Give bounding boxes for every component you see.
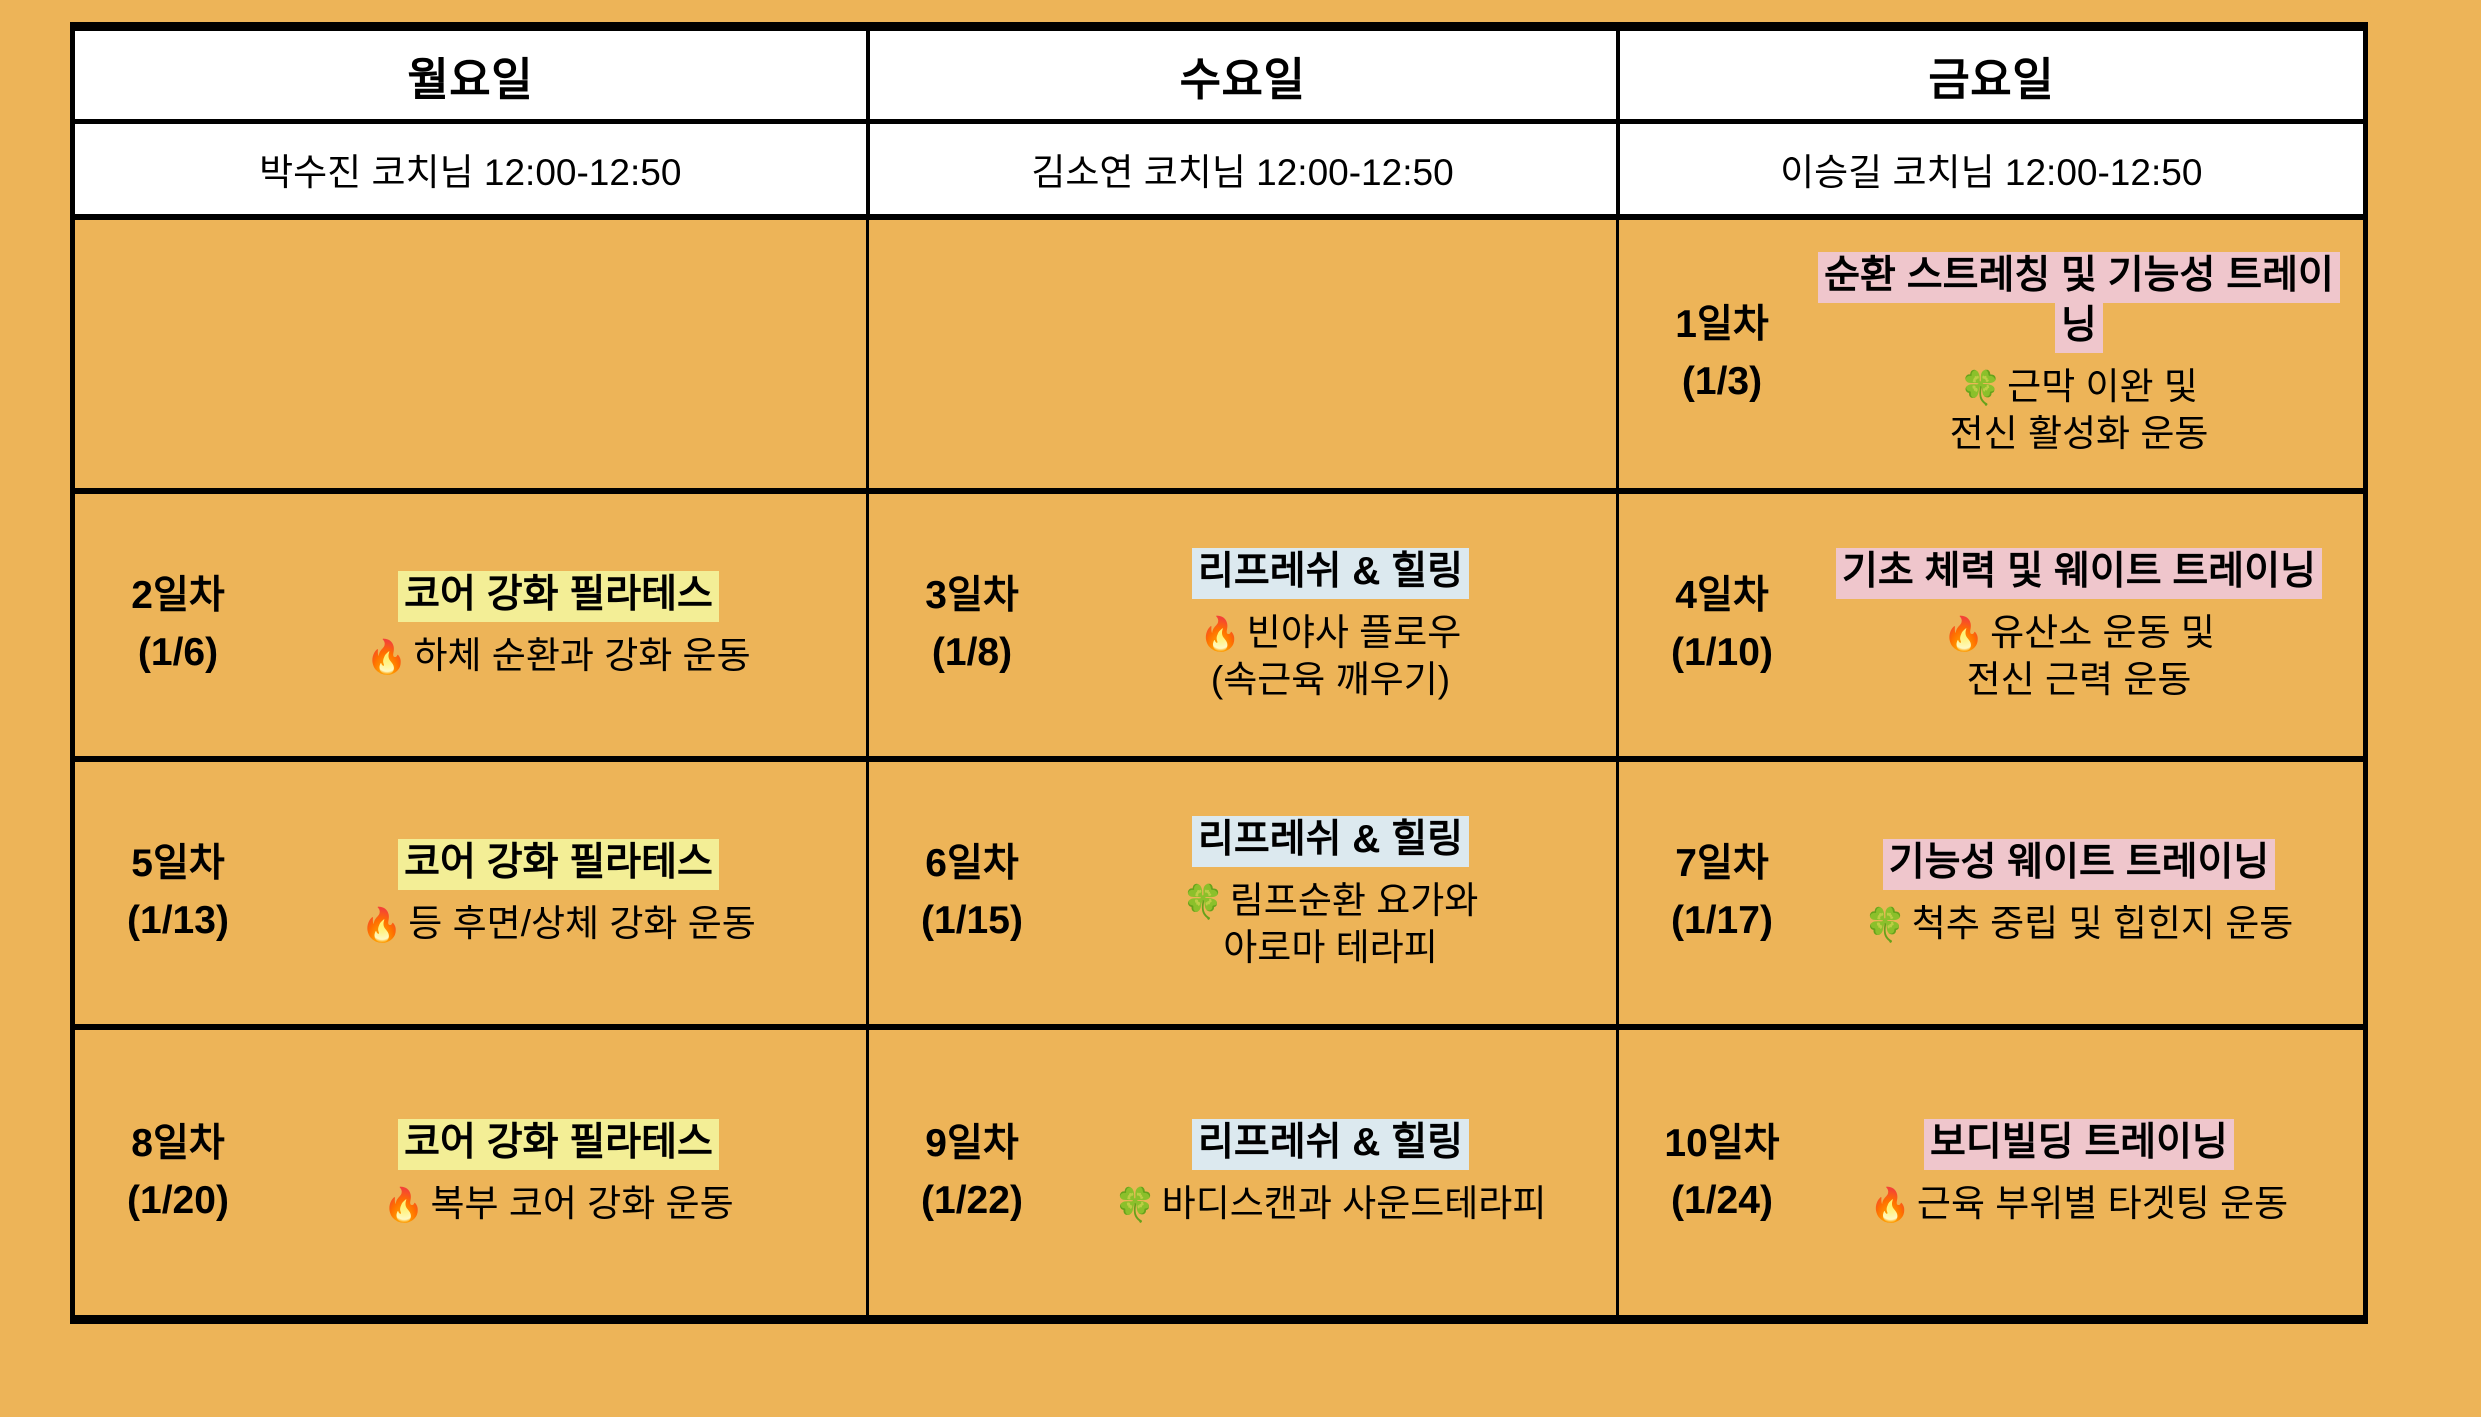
class-subtitle-line: 🔥빈야사 플로우 bbox=[1057, 609, 1604, 656]
class-detail: 기능성 웨이트 트레이닝🍀척추 중립 및 힙힌지 운동 bbox=[1807, 838, 2357, 947]
class-subtitle-line: 🔥하체 순환과 강화 운동 bbox=[263, 632, 854, 679]
cell-content: 4일차(1/10)기초 체력 및 웨이트 트레이닝🔥유산소 운동 및전신 근력 … bbox=[1619, 494, 2363, 756]
class-subtitle-line: 🍀근막 이완 및 bbox=[1807, 363, 2351, 410]
fire-icon: 🔥 bbox=[1870, 1185, 1911, 1224]
day-number: 10일차(1/24) bbox=[1637, 1116, 1807, 1229]
class-subtitle: 🔥등 후면/상체 강화 운동 bbox=[263, 900, 854, 947]
date-label: (1/24) bbox=[1637, 1173, 1807, 1230]
class-subtitle-text: 척추 중립 및 힙힌지 운동 bbox=[1912, 903, 2294, 944]
schedule-row: 1일차(1/3)순환 스트레칭 및 기능성 트레이닝🍀근막 이완 및전신 활성화… bbox=[73, 217, 2366, 491]
class-subtitle-line: 아로마 테라피 bbox=[1057, 924, 1604, 971]
class-subtitle-text: 전신 활성화 운동 bbox=[1950, 413, 2209, 454]
class-title: 순환 스트레칭 및 기능성 트레이닝 bbox=[1818, 252, 2340, 353]
class-title: 보디빌딩 트레이닝 bbox=[1924, 1119, 2234, 1170]
coach-info-monday: 박수진 코치님 12:00-12:50 bbox=[73, 122, 868, 218]
day-count-label: 7일차 bbox=[1637, 836, 1807, 893]
day-number: 2일차(1/6) bbox=[93, 568, 263, 681]
class-subtitle: 🔥빈야사 플로우(속근육 깨우기) bbox=[1057, 609, 1604, 704]
day-count-label: 9일차 bbox=[887, 1116, 1057, 1173]
class-title: 코어 강화 필라테스 bbox=[398, 571, 719, 622]
cell-content: 10일차(1/24)보디빌딩 트레이닝🔥근육 부위별 타겟팅 운동 bbox=[1619, 1030, 2363, 1315]
cell-content: 1일차(1/3)순환 스트레칭 및 기능성 트레이닝🍀근막 이완 및전신 활성화… bbox=[1619, 220, 2363, 488]
class-detail: 리프레쉬 & 힐링🍀바디스캔과 사운드테라피 bbox=[1057, 1118, 1610, 1227]
schedule-cell-friday[interactable]: 10일차(1/24)보디빌딩 트레이닝🔥근육 부위별 타겟팅 운동 bbox=[1618, 1027, 2366, 1320]
day-number: 6일차(1/15) bbox=[887, 836, 1057, 949]
class-subtitle-text: 하체 순환과 강화 운동 bbox=[413, 635, 750, 676]
class-subtitle-line: 🍀림프순환 요가와 bbox=[1057, 877, 1604, 924]
class-subtitle: 🔥하체 순환과 강화 운동 bbox=[263, 632, 854, 679]
cell-content: 5일차(1/13)코어 강화 필라테스🔥등 후면/상체 강화 운동 bbox=[75, 762, 866, 1024]
class-subtitle: 🍀근막 이완 및전신 활성화 운동 bbox=[1807, 363, 2351, 458]
class-detail: 기초 체력 및 웨이트 트레이닝🔥유산소 운동 및전신 근력 운동 bbox=[1807, 547, 2357, 704]
class-detail: 순환 스트레칭 및 기능성 트레이닝🍀근막 이완 및전신 활성화 운동 bbox=[1807, 251, 2357, 458]
class-title: 코어 강화 필라테스 bbox=[398, 1119, 719, 1170]
schedule-cell-friday[interactable]: 4일차(1/10)기초 체력 및 웨이트 트레이닝🔥유산소 운동 및전신 근력 … bbox=[1618, 491, 2366, 759]
class-subtitle-text: 근육 부위별 타겟팅 운동 bbox=[1917, 1183, 2288, 1224]
fire-icon: 🔥 bbox=[1943, 614, 1984, 653]
day-number: 3일차(1/8) bbox=[887, 568, 1057, 681]
schedule-row: 5일차(1/13)코어 강화 필라테스🔥등 후면/상체 강화 운동6일차(1/1… bbox=[73, 759, 2366, 1027]
schedule-cell-empty-monday bbox=[73, 217, 868, 491]
day-number: 1일차(1/3) bbox=[1637, 297, 1807, 410]
day-count-label: 1일차 bbox=[1637, 297, 1807, 354]
class-detail: 코어 강화 필라테스🔥복부 코어 강화 운동 bbox=[263, 1118, 860, 1227]
day-header-wednesday: 수요일 bbox=[868, 27, 1618, 122]
class-title-line: 리프레쉬 & 힐링 bbox=[1057, 1118, 1604, 1168]
date-label: (1/17) bbox=[1637, 893, 1807, 950]
day-count-label: 8일차 bbox=[93, 1116, 263, 1173]
day-number: 4일차(1/10) bbox=[1637, 568, 1807, 681]
cell-content: 6일차(1/15)리프레쉬 & 힐링🍀림프순환 요가와아로마 테라피 bbox=[869, 762, 1616, 1024]
class-subtitle-line: 🍀바디스캔과 사운드테라피 bbox=[1057, 1180, 1604, 1227]
class-title: 리프레쉬 & 힐링 bbox=[1192, 816, 1469, 867]
class-detail: 코어 강화 필라테스🔥하체 순환과 강화 운동 bbox=[263, 570, 860, 679]
class-detail: 리프레쉬 & 힐링🔥빈야사 플로우(속근육 깨우기) bbox=[1057, 547, 1610, 704]
day-count-label: 5일차 bbox=[93, 836, 263, 893]
day-number: 9일차(1/22) bbox=[887, 1116, 1057, 1229]
class-subtitle: 🍀바디스캔과 사운드테라피 bbox=[1057, 1180, 1604, 1227]
schedule-cell-friday[interactable]: 1일차(1/3)순환 스트레칭 및 기능성 트레이닝🍀근막 이완 및전신 활성화… bbox=[1618, 217, 2366, 491]
class-subtitle-line: 🔥등 후면/상체 강화 운동 bbox=[263, 900, 854, 947]
cell-content: 2일차(1/6)코어 강화 필라테스🔥하체 순환과 강화 운동 bbox=[75, 494, 866, 756]
class-detail: 코어 강화 필라테스🔥등 후면/상체 강화 운동 bbox=[263, 838, 860, 947]
fire-icon: 🔥 bbox=[361, 905, 402, 944]
class-title: 리프레쉬 & 힐링 bbox=[1192, 1119, 1469, 1170]
clover-icon: 🍀 bbox=[1115, 1185, 1156, 1224]
schedule-cell-wednesday[interactable]: 9일차(1/22)리프레쉬 & 힐링🍀바디스캔과 사운드테라피 bbox=[868, 1027, 1618, 1320]
class-subtitle: 🔥복부 코어 강화 운동 bbox=[263, 1180, 854, 1227]
coach-header-row: 박수진 코치님 12:00-12:50 김소연 코치님 12:00-12:50 … bbox=[73, 122, 2366, 218]
class-subtitle: 🍀척추 중립 및 힙힌지 운동 bbox=[1807, 900, 2351, 947]
class-subtitle-line: (속근육 깨우기) bbox=[1057, 656, 1604, 703]
cell-content: 9일차(1/22)리프레쉬 & 힐링🍀바디스캔과 사운드테라피 bbox=[869, 1030, 1616, 1315]
date-label: (1/15) bbox=[887, 893, 1057, 950]
class-subtitle-text: 근막 이완 및 bbox=[2007, 366, 2198, 407]
class-schedule-table: 월요일 수요일 금요일 박수진 코치님 12:00-12:50 김소연 코치님 … bbox=[70, 22, 2368, 1324]
class-title-line: 코어 강화 필라테스 bbox=[263, 1118, 854, 1168]
schedule-cell-wednesday[interactable]: 3일차(1/8)리프레쉬 & 힐링🔥빈야사 플로우(속근육 깨우기) bbox=[868, 491, 1618, 759]
day-count-label: 6일차 bbox=[887, 836, 1057, 893]
schedule-cell-empty-wednesday bbox=[868, 217, 1618, 491]
class-subtitle-text: (속근육 깨우기) bbox=[1211, 659, 1450, 700]
class-title-line: 보디빌딩 트레이닝 bbox=[1807, 1118, 2351, 1168]
class-title-line: 리프레쉬 & 힐링 bbox=[1057, 547, 1604, 597]
schedule-cell-monday[interactable]: 2일차(1/6)코어 강화 필라테스🔥하체 순환과 강화 운동 bbox=[73, 491, 868, 759]
class-title: 리프레쉬 & 힐링 bbox=[1192, 548, 1469, 599]
day-count-label: 4일차 bbox=[1637, 568, 1807, 625]
class-subtitle-line: 🔥복부 코어 강화 운동 bbox=[263, 1180, 854, 1227]
date-label: (1/22) bbox=[887, 1173, 1057, 1230]
class-subtitle-line: 전신 근력 운동 bbox=[1807, 656, 2351, 703]
class-title-line: 코어 강화 필라테스 bbox=[263, 570, 854, 620]
class-subtitle-text: 빈야사 플로우 bbox=[1247, 612, 1462, 653]
class-subtitle: 🍀림프순환 요가와아로마 테라피 bbox=[1057, 877, 1604, 972]
day-count-label: 2일차 bbox=[93, 568, 263, 625]
class-title-line: 기능성 웨이트 트레이닝 bbox=[1807, 838, 2351, 888]
class-detail: 보디빌딩 트레이닝🔥근육 부위별 타겟팅 운동 bbox=[1807, 1118, 2357, 1227]
day-number: 5일차(1/13) bbox=[93, 836, 263, 949]
day-header-row: 월요일 수요일 금요일 bbox=[73, 27, 2366, 122]
date-label: (1/3) bbox=[1637, 354, 1807, 411]
schedule-cell-wednesday[interactable]: 6일차(1/15)리프레쉬 & 힐링🍀림프순환 요가와아로마 테라피 bbox=[868, 759, 1618, 1027]
fire-icon: 🔥 bbox=[366, 637, 407, 676]
schedule-header: 월요일 수요일 금요일 박수진 코치님 12:00-12:50 김소연 코치님 … bbox=[73, 27, 2366, 218]
class-subtitle-line: 🍀척추 중립 및 힙힌지 운동 bbox=[1807, 900, 2351, 947]
coach-info-wednesday: 김소연 코치님 12:00-12:50 bbox=[868, 122, 1618, 218]
clover-icon: 🍀 bbox=[1960, 368, 2001, 407]
class-subtitle-text: 바디스캔과 사운드테라피 bbox=[1162, 1183, 1547, 1224]
class-title-line: 코어 강화 필라테스 bbox=[263, 838, 854, 888]
schedule-cell-monday[interactable]: 8일차(1/20)코어 강화 필라테스🔥복부 코어 강화 운동 bbox=[73, 1027, 868, 1320]
clover-icon: 🍀 bbox=[1183, 882, 1224, 921]
class-subtitle: 🔥유산소 운동 및전신 근력 운동 bbox=[1807, 609, 2351, 704]
day-number: 8일차(1/20) bbox=[93, 1116, 263, 1229]
date-label: (1/10) bbox=[1637, 625, 1807, 682]
class-subtitle-line: 전신 활성화 운동 bbox=[1807, 410, 2351, 457]
class-title: 기능성 웨이트 트레이닝 bbox=[1883, 839, 2275, 890]
coach-info-friday: 이승길 코치님 12:00-12:50 bbox=[1618, 122, 2366, 218]
class-subtitle: 🔥근육 부위별 타겟팅 운동 bbox=[1807, 1180, 2351, 1227]
class-detail: 리프레쉬 & 힐링🍀림프순환 요가와아로마 테라피 bbox=[1057, 815, 1610, 972]
day-number: 7일차(1/17) bbox=[1637, 836, 1807, 949]
fire-icon: 🔥 bbox=[383, 1185, 424, 1224]
schedule-body: 1일차(1/3)순환 스트레칭 및 기능성 트레이닝🍀근막 이완 및전신 활성화… bbox=[73, 217, 2366, 1320]
class-title: 기초 체력 및 웨이트 트레이닝 bbox=[1836, 548, 2322, 599]
class-subtitle-line: 🔥유산소 운동 및 bbox=[1807, 609, 2351, 656]
date-label: (1/20) bbox=[93, 1173, 263, 1230]
schedule-cell-monday[interactable]: 5일차(1/13)코어 강화 필라테스🔥등 후면/상체 강화 운동 bbox=[73, 759, 868, 1027]
date-label: (1/8) bbox=[887, 625, 1057, 682]
schedule-row: 2일차(1/6)코어 강화 필라테스🔥하체 순환과 강화 운동3일차(1/8)리… bbox=[73, 491, 2366, 759]
class-subtitle-line: 🔥근육 부위별 타겟팅 운동 bbox=[1807, 1180, 2351, 1227]
class-title-line: 기초 체력 및 웨이트 트레이닝 bbox=[1807, 547, 2351, 597]
class-title: 코어 강화 필라테스 bbox=[398, 839, 719, 890]
cell-content: 8일차(1/20)코어 강화 필라테스🔥복부 코어 강화 운동 bbox=[75, 1030, 866, 1315]
schedule-cell-friday[interactable]: 7일차(1/17)기능성 웨이트 트레이닝🍀척추 중립 및 힙힌지 운동 bbox=[1618, 759, 2366, 1027]
class-subtitle-text: 아로마 테라피 bbox=[1223, 927, 1438, 968]
class-subtitle-text: 유산소 운동 및 bbox=[1990, 612, 2215, 653]
class-schedule-container: 월요일 수요일 금요일 박수진 코치님 12:00-12:50 김소연 코치님 … bbox=[70, 22, 2363, 1324]
cell-content: 3일차(1/8)리프레쉬 & 힐링🔥빈야사 플로우(속근육 깨우기) bbox=[869, 494, 1616, 756]
fire-icon: 🔥 bbox=[1200, 614, 1241, 653]
class-subtitle-text: 림프순환 요가와 bbox=[1230, 880, 1479, 921]
class-title-line: 리프레쉬 & 힐링 bbox=[1057, 815, 1604, 865]
day-count-label: 10일차 bbox=[1637, 1116, 1807, 1173]
class-subtitle-text: 복부 코어 강화 운동 bbox=[430, 1183, 733, 1224]
class-subtitle-text: 전신 근력 운동 bbox=[1967, 659, 2192, 700]
day-count-label: 3일차 bbox=[887, 568, 1057, 625]
clover-icon: 🍀 bbox=[1865, 905, 1906, 944]
class-title-line: 순환 스트레칭 및 기능성 트레이닝 bbox=[1807, 251, 2351, 351]
date-label: (1/6) bbox=[93, 625, 263, 682]
class-subtitle-text: 등 후면/상체 강화 운동 bbox=[408, 903, 755, 944]
day-header-monday: 월요일 bbox=[73, 27, 868, 122]
schedule-row: 8일차(1/20)코어 강화 필라테스🔥복부 코어 강화 운동9일차(1/22)… bbox=[73, 1027, 2366, 1320]
cell-content: 7일차(1/17)기능성 웨이트 트레이닝🍀척추 중립 및 힙힌지 운동 bbox=[1619, 762, 2363, 1024]
date-label: (1/13) bbox=[93, 893, 263, 950]
day-header-friday: 금요일 bbox=[1618, 27, 2366, 122]
